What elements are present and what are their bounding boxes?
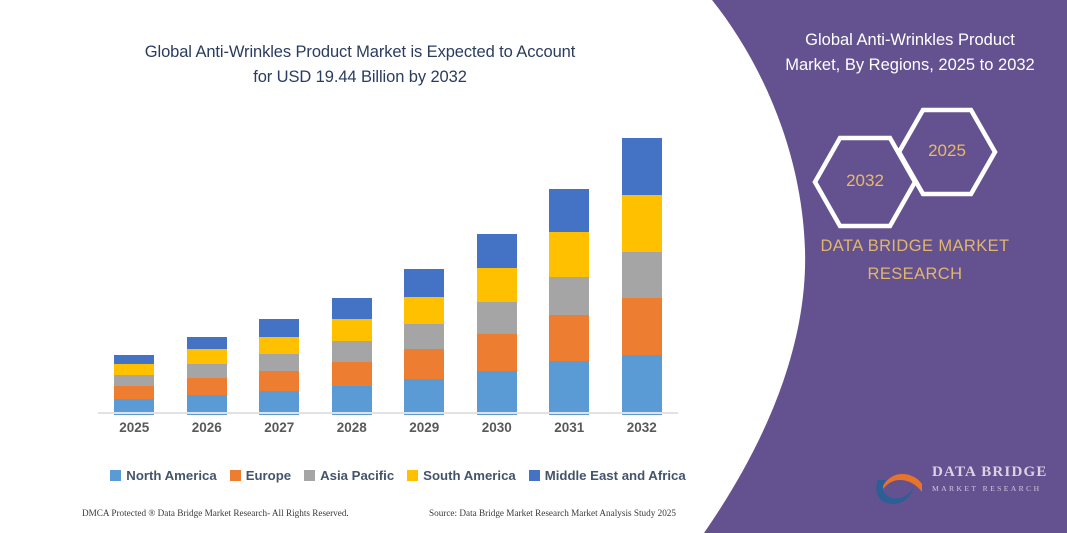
panel-title: Global Anti-Wrinkles Product Market, By … <box>765 28 1055 78</box>
legend-item[interactable]: South America <box>407 468 516 483</box>
bar-segment <box>332 341 372 362</box>
bar-group <box>114 355 154 415</box>
bar-group <box>622 138 662 415</box>
legend-label: South America <box>423 468 516 483</box>
bar-chart-plot-area <box>98 120 678 415</box>
bar-segment <box>622 195 662 252</box>
bar-segment <box>477 371 517 415</box>
chart-title-line-1: Global Anti-Wrinkles Product Market is E… <box>60 40 660 65</box>
bar-segment <box>404 269 444 296</box>
legend-label: Europe <box>246 468 291 483</box>
brand-name: DATA BRIDGE MARKET RESEARCH <box>790 232 1040 288</box>
x-axis-tick-labels: 20252026202720282029203020312032 <box>98 420 678 444</box>
panel-title-line-1: Global Anti-Wrinkles Product <box>765 28 1055 53</box>
bar-segment <box>549 361 589 415</box>
bar-segment <box>187 349 227 363</box>
legend-swatch-icon <box>110 470 121 481</box>
legend-swatch-icon <box>529 470 540 481</box>
bar-segment <box>332 386 372 415</box>
bar-segment <box>259 354 299 371</box>
bar-segment <box>404 379 444 415</box>
bar-segment <box>114 364 154 375</box>
bar-group <box>187 337 227 415</box>
brand-line-1: DATA BRIDGE MARKET <box>790 232 1040 260</box>
x-axis-label: 2030 <box>461 420 533 435</box>
hexagon-group: 2025 2032 <box>810 105 1010 215</box>
bar-group <box>477 234 517 415</box>
x-axis-label: 2025 <box>98 420 170 435</box>
bar-segment <box>477 268 517 302</box>
infographic-canvas: Global Anti-Wrinkles Product Market is E… <box>0 0 1067 533</box>
legend-swatch-icon <box>230 470 241 481</box>
chart-title: Global Anti-Wrinkles Product Market is E… <box>60 40 660 90</box>
x-axis-label: 2029 <box>388 420 460 435</box>
data-bridge-mark-icon <box>872 462 930 508</box>
panel-title-line-2: Market, By Regions, 2025 to 2032 <box>765 53 1055 78</box>
legend-swatch-icon <box>407 470 418 481</box>
bar-group <box>549 189 589 415</box>
bar-segment <box>549 189 589 232</box>
bar-group <box>259 319 299 415</box>
bar-group <box>404 269 444 415</box>
footer-source: Source: Data Bridge Market Research Mark… <box>429 508 676 518</box>
footer-text: DMCA Protected ® Data Bridge Market Rese… <box>82 508 682 518</box>
bar-segment <box>187 378 227 395</box>
bar-segment <box>114 375 154 386</box>
bar-segment <box>549 232 589 276</box>
bar-segment <box>332 298 372 319</box>
legend-label: North America <box>126 468 216 483</box>
x-axis-label: 2028 <box>316 420 388 435</box>
bar-segment <box>477 302 517 333</box>
bar-group <box>332 298 372 415</box>
bar-segment <box>259 371 299 391</box>
bar-segment <box>549 315 589 361</box>
bar-segment <box>622 252 662 298</box>
bar-segment <box>114 386 154 399</box>
bar-segment <box>187 364 227 378</box>
legend-item[interactable]: North America <box>110 468 216 483</box>
x-axis-label: 2032 <box>606 420 678 435</box>
bar-segment <box>332 319 372 340</box>
bar-segment <box>622 298 662 355</box>
bar-segment <box>404 349 444 379</box>
x-axis-line <box>98 412 678 414</box>
hexagon-2032-label: 2032 <box>810 171 920 191</box>
x-axis-label: 2026 <box>171 420 243 435</box>
legend-item[interactable]: Asia Pacific <box>304 468 394 483</box>
logo-sub-text: MARKET RESEARCH <box>932 484 1048 493</box>
bar-segment <box>187 337 227 350</box>
legend-label: Middle East and Africa <box>545 468 686 483</box>
bar-segment <box>404 297 444 324</box>
legend-label: Asia Pacific <box>320 468 394 483</box>
bar-segment <box>622 355 662 415</box>
chart-legend: North AmericaEuropeAsia PacificSouth Ame… <box>98 468 698 483</box>
bar-segment <box>404 324 444 350</box>
bar-segment <box>477 334 517 371</box>
bar-segment <box>114 355 154 364</box>
chart-panel: Global Anti-Wrinkles Product Market is E… <box>0 0 712 533</box>
logo-main-text: DATA BRIDGE <box>932 464 1048 481</box>
bar-segment <box>259 319 299 336</box>
bar-segment <box>332 362 372 386</box>
logo-wordmark: DATA BRIDGE MARKET RESEARCH <box>932 464 1048 493</box>
bar-segment <box>477 234 517 268</box>
bar-segment <box>259 337 299 354</box>
hexagon-2032: 2032 <box>810 133 920 231</box>
legend-swatch-icon <box>304 470 315 481</box>
legend-item[interactable]: Europe <box>230 468 291 483</box>
legend-item[interactable]: Middle East and Africa <box>529 468 686 483</box>
x-axis-label: 2031 <box>533 420 605 435</box>
bar-segment <box>549 277 589 316</box>
footer-copyright: DMCA Protected ® Data Bridge Market Rese… <box>82 508 349 518</box>
bar-segment <box>622 138 662 195</box>
chart-title-line-2: for USD 19.44 Billion by 2032 <box>60 65 660 90</box>
x-axis-label: 2027 <box>243 420 315 435</box>
data-bridge-logo: DATA BRIDGE MARKET RESEARCH <box>872 462 1052 510</box>
brand-line-2: RESEARCH <box>790 260 1040 288</box>
